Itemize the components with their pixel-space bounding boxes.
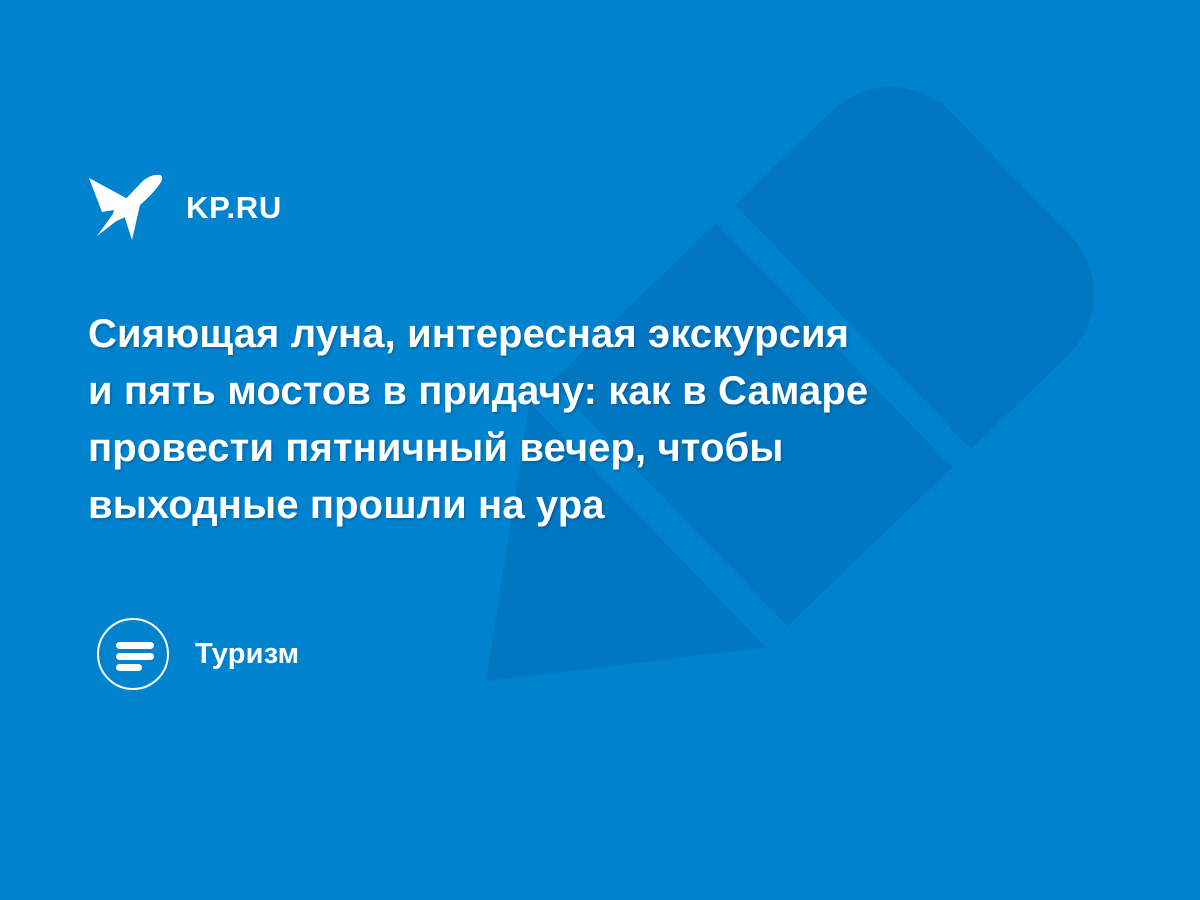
share-card: KP.RU Сияющая луна, интересная экскурсия… (0, 0, 1200, 900)
category-label: Туризм (195, 640, 299, 669)
headline: Сияющая луна, интересная экскурсия и пят… (88, 306, 1048, 534)
brand-wordmark: KP.RU (186, 192, 282, 223)
brand-header: KP.RU (88, 170, 282, 244)
list-line-2 (116, 653, 154, 660)
list-line-1 (116, 642, 154, 649)
headline-line-3: провести пятничный вечер, чтобы (88, 420, 1048, 477)
headline-line-4: выходные прошли на ура (88, 477, 1048, 534)
list-lines-icon (97, 618, 169, 690)
swallow-bird-icon (88, 172, 164, 242)
headline-line-1: Сияющая луна, интересная экскурсия (88, 306, 1048, 363)
list-line-3 (116, 664, 142, 671)
headline-line-2: и пять мостов в придачу: как в Самаре (88, 363, 1048, 420)
category-badge[interactable]: Туризм (97, 617, 299, 691)
